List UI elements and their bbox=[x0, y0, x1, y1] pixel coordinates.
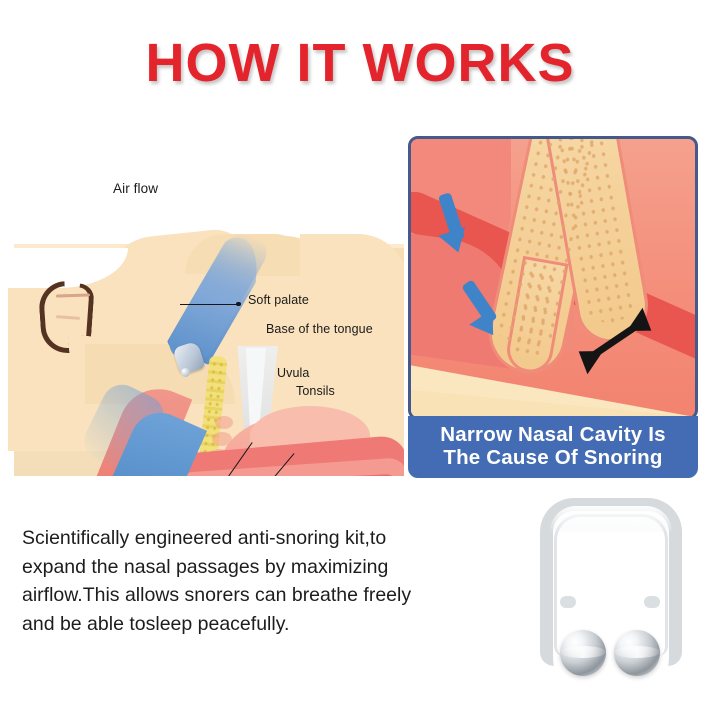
narrow-nasal-cavity-panel: Narrow Nasal Cavity Is The Cause Of Snor… bbox=[408, 136, 698, 476]
label-tonsils: Tonsils bbox=[296, 384, 335, 398]
magnet-ball-right-highlight bbox=[614, 646, 660, 658]
page-title: HOW IT WORKS bbox=[0, 36, 720, 90]
nasal-cavity-illustration bbox=[408, 136, 698, 420]
nose-clip-nub-right bbox=[644, 596, 660, 608]
label-air-flow: Air flow bbox=[113, 181, 158, 196]
magnet-ball-left-highlight bbox=[560, 646, 606, 658]
label-uvula: Uvula bbox=[277, 366, 309, 380]
panel-caption-banner: Narrow Nasal Cavity Is The Cause Of Snor… bbox=[408, 416, 698, 478]
description-line-3: airflow.This allows snorers can breathe … bbox=[22, 581, 492, 610]
caption-line-1: Narrow Nasal Cavity Is bbox=[440, 424, 665, 447]
nose-clip-nub-left bbox=[560, 596, 576, 608]
leader-dot-air-flow bbox=[236, 302, 241, 307]
nose-clip-magnet-ball bbox=[181, 368, 190, 377]
infographic-canvas: HOW IT WORKS bbox=[0, 0, 720, 720]
description-line-4: and be able tosleep peacefully. bbox=[22, 610, 492, 639]
sagittal-head-airway-diagram bbox=[0, 116, 404, 476]
description-text: Scientifically engineered anti-snoring k… bbox=[22, 524, 492, 639]
description-line-2: expand the nasal passages by maximizing bbox=[22, 553, 492, 582]
caption-line-2: The Cause Of Snoring bbox=[443, 447, 662, 470]
label-base-of-tongue: Base of the tongue bbox=[266, 322, 373, 336]
label-soft-palate: Soft palate bbox=[248, 293, 309, 307]
magnetic-silicone-nose-clip bbox=[516, 492, 704, 692]
nose-clip-highlight bbox=[550, 506, 672, 532]
leader-line-air-flow bbox=[180, 304, 240, 305]
description-line-1: Scientifically engineered anti-snoring k… bbox=[22, 524, 492, 553]
soft-palate-bump bbox=[215, 416, 233, 429]
